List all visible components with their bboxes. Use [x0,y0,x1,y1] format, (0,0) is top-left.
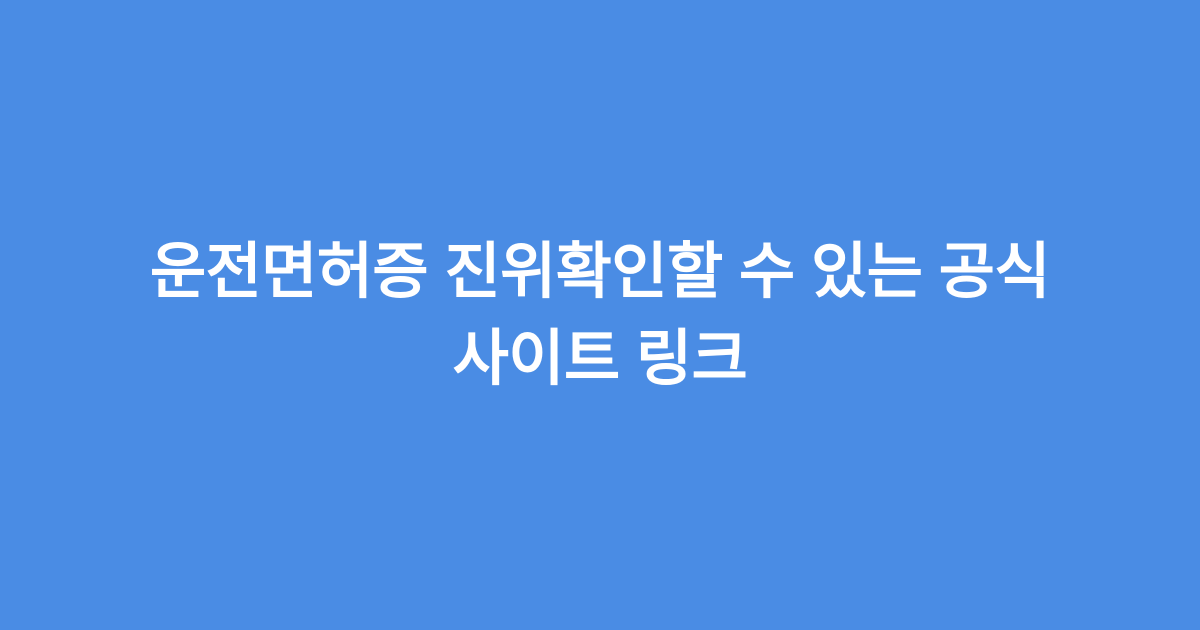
headline-block: 운전면허증 진위확인할 수 있는 공식 사이트 링크 [90,228,1110,402]
share-card: 운전면허증 진위확인할 수 있는 공식 사이트 링크 [0,0,1200,630]
page-title: 운전면허증 진위확인할 수 있는 공식 사이트 링크 [100,228,1100,402]
